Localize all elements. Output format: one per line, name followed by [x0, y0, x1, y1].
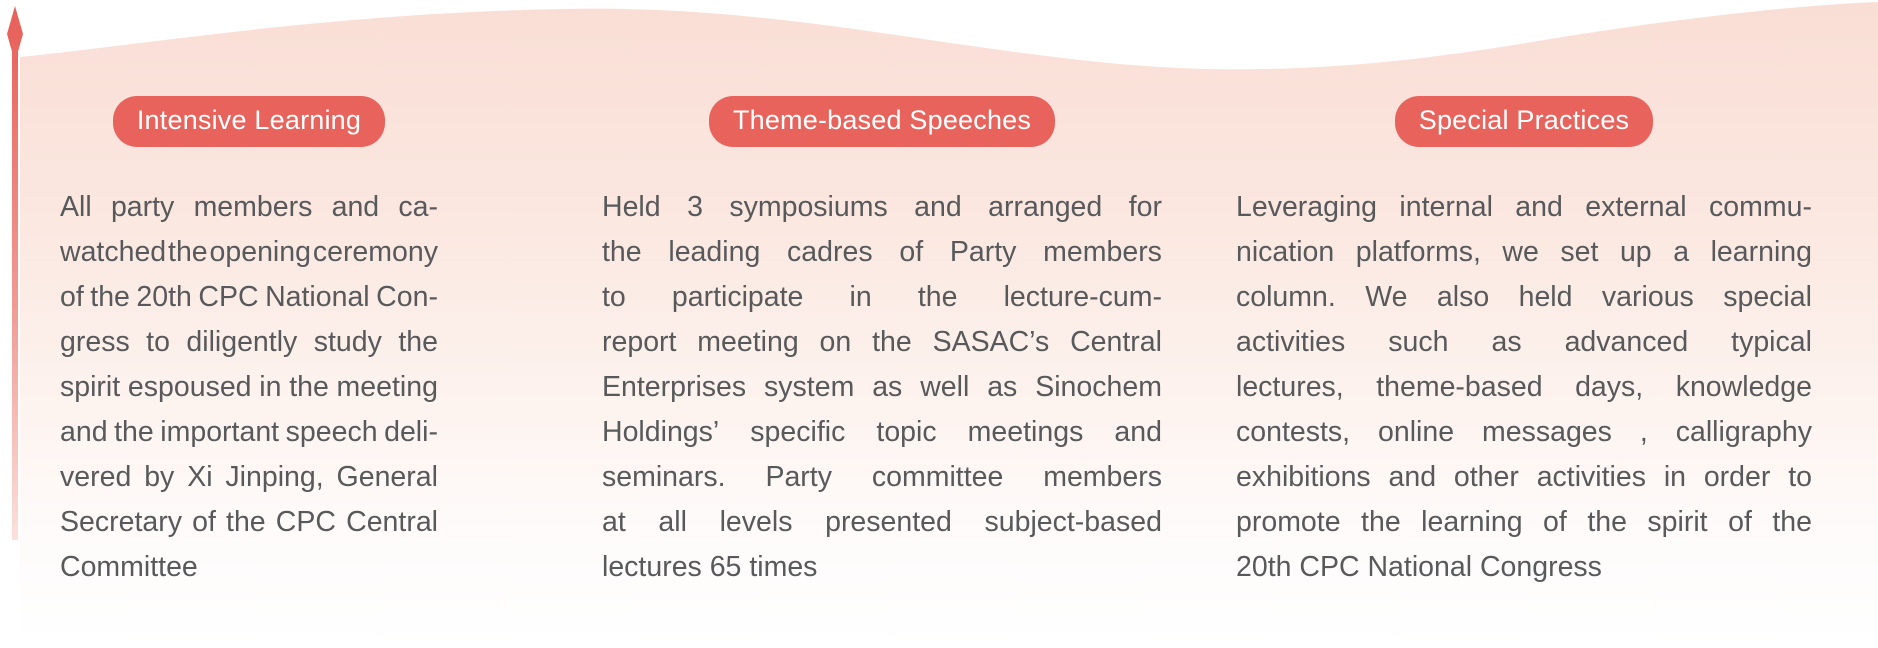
body-line: Leveraginginternalandexternalcommu-: [1236, 185, 1812, 230]
body-line: gresstodiligentlystudythe: [60, 320, 438, 365]
body-line: atalllevelspresentedsubject-based: [602, 500, 1162, 545]
body-line: ofthe20thCPCNationalCon-: [60, 275, 438, 320]
body-line: seminars.Partycommitteemembers: [602, 455, 1162, 500]
body-line: Committee: [60, 545, 438, 590]
body-text-intensive-learning: Allpartymembersandca- watchedtheopeningc…: [60, 185, 438, 590]
body-line: theleadingcadresofPartymembers: [602, 230, 1162, 275]
content-column-theme-based-speeches: Theme-based Speeches Held3symposiumsanda…: [602, 96, 1162, 590]
body-line: activitiessuchasadvancedtypical: [1236, 320, 1812, 365]
body-line: exhibitionsandotheractivitiesinorderto: [1236, 455, 1812, 500]
body-line: spiritespousedinthemeeting: [60, 365, 438, 410]
body-text-theme-based-speeches: Held3symposiumsandarrangedfor theleading…: [602, 185, 1162, 590]
body-line: veredbyXiJinping,General: [60, 455, 438, 500]
body-line: toparticipateinthelecture-cum-: [602, 275, 1162, 320]
body-line: Held3symposiumsandarrangedfor: [602, 185, 1162, 230]
body-line: watchedtheopeningceremony: [60, 230, 438, 275]
body-line: SecretaryoftheCPCCentral: [60, 500, 438, 545]
badge-theme-based-speeches[interactable]: Theme-based Speeches: [709, 96, 1055, 147]
body-line: EnterprisessystemaswellasSinochem: [602, 365, 1162, 410]
body-line: andtheimportantspeechdeli-: [60, 410, 438, 455]
body-line: reportmeetingontheSASAC’sCentral: [602, 320, 1162, 365]
infographic-canvas: Intensive Learning Allpartymembersandca-…: [0, 0, 1878, 648]
body-line: column.Wealsoheldvariousspecial: [1236, 275, 1812, 320]
body-line: nicationplatforms,wesetupalearning: [1236, 230, 1812, 275]
badge-row: Theme-based Speeches: [602, 96, 1162, 147]
body-text-special-practices: Leveraginginternalandexternalcommu- nica…: [1236, 185, 1812, 590]
body-line: Allpartymembersandca-: [60, 185, 438, 230]
body-line: lectures,theme-baseddays,knowledge: [1236, 365, 1812, 410]
body-line: 20th CPC National Congress: [1236, 545, 1812, 590]
content-column-special-practices: Special Practices Leveraginginternalande…: [1236, 96, 1812, 590]
badge-special-practices[interactable]: Special Practices: [1395, 96, 1654, 147]
body-line: lectures 65 times: [602, 545, 1162, 590]
badge-row: Intensive Learning: [60, 96, 438, 147]
badge-intensive-learning[interactable]: Intensive Learning: [113, 96, 385, 147]
content-column-intensive-learning: Intensive Learning Allpartymembersandca-…: [60, 96, 438, 590]
timeline-arrow-icon: [0, 0, 44, 540]
badge-row: Special Practices: [1236, 96, 1812, 147]
body-line: contests,onlinemessages,calligraphy: [1236, 410, 1812, 455]
body-line: Holdings’specifictopicmeetingsand: [602, 410, 1162, 455]
body-line: promotethelearningofthespiritofthe: [1236, 500, 1812, 545]
